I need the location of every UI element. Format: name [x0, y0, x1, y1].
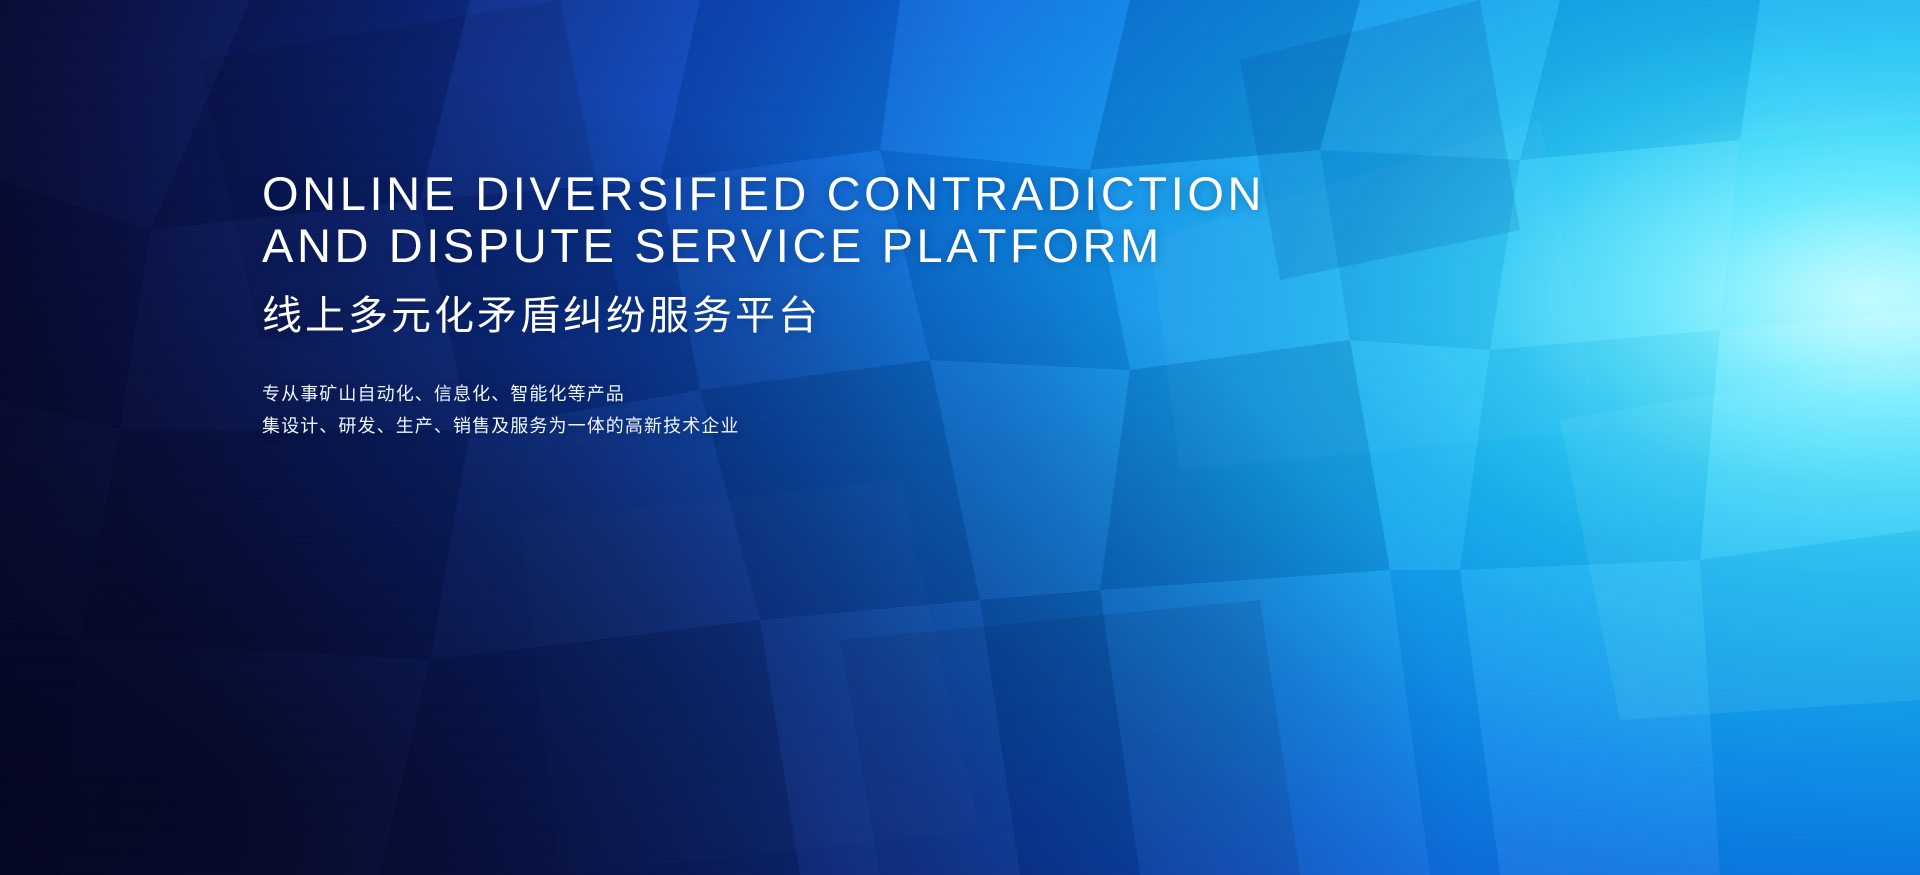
description-line-1: 专从事矿山自动化、信息化、智能化等产品 — [262, 378, 1662, 410]
headline-line-2: AND DISPUTE SERVICE PLATFORM — [262, 220, 1662, 272]
description-line-2: 集设计、研发、生产、销售及服务为一体的高新技术企业 — [262, 410, 1662, 442]
headline-line-1: ONLINE DIVERSIFIED CONTRADICTION — [262, 168, 1662, 220]
banner-content: ONLINE DIVERSIFIED CONTRADICTION AND DIS… — [262, 168, 1662, 442]
description-block: 专从事矿山自动化、信息化、智能化等产品 集设计、研发、生产、销售及服务为一体的高… — [262, 378, 1662, 442]
hero-banner: ONLINE DIVERSIFIED CONTRADICTION AND DIS… — [0, 0, 1920, 875]
page-title-chinese: 线上多元化矛盾纠纷服务平台 — [262, 292, 1662, 340]
